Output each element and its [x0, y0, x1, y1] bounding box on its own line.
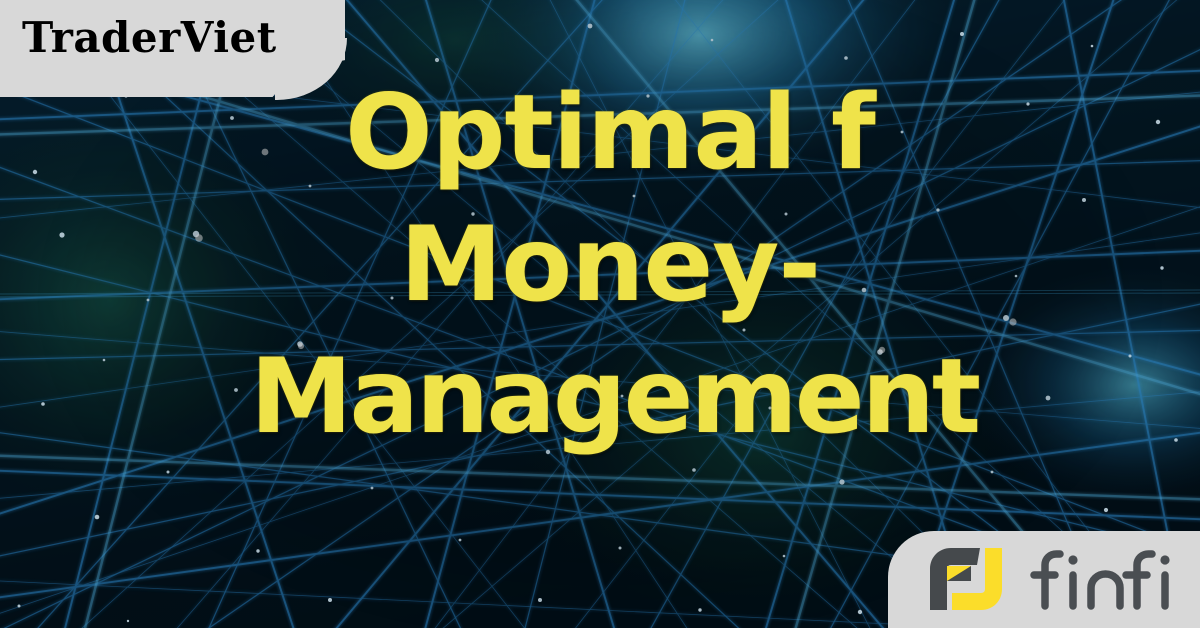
- finfin-logo-plate[interactable]: [888, 531, 1200, 628]
- traderviet-plate-corner-curve: [275, 38, 347, 100]
- traderviet-wordmark: TraderViet: [22, 13, 277, 62]
- traderviet-logo-plate[interactable]: TraderViet: [0, 0, 345, 97]
- finfin-monogram-icon: [924, 548, 1010, 610]
- finfin-logo[interactable]: [924, 548, 1191, 610]
- finfin-wordmark: [1023, 548, 1191, 610]
- promo-banner: Optimal f Money- Management TraderViet: [0, 0, 1200, 628]
